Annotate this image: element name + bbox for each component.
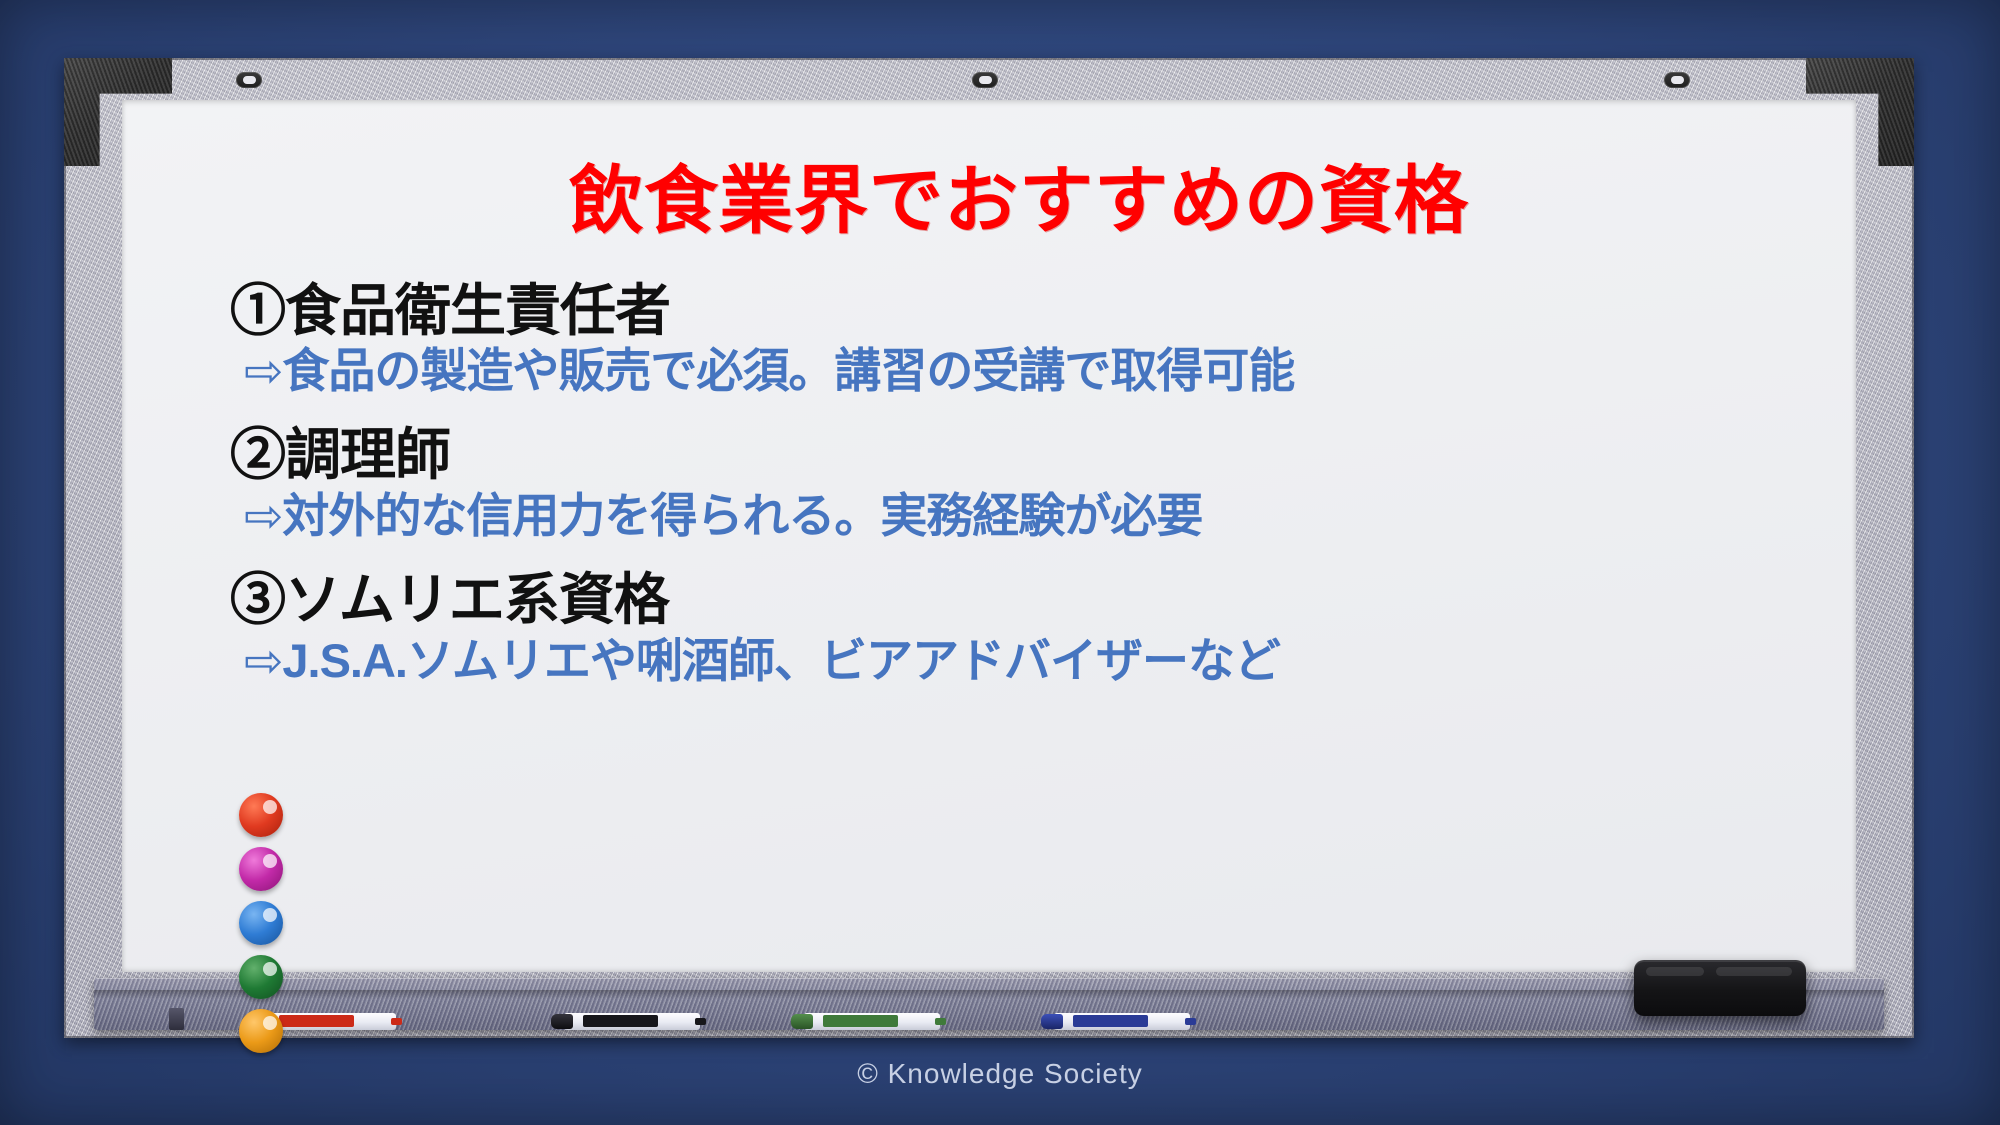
magnet-green[interactable] [239, 955, 283, 999]
mount-screw-left [236, 72, 262, 88]
item-2-description: ⇨対外的な信用力を得られる。実務経験が必要 [244, 489, 1844, 543]
certification-list: ①食品衛生責任者 ⇨食品の製造や販売で必須。講習の受講で取得可能 ②調理師 ⇨対… [194, 280, 1844, 688]
marker-black[interactable] [564, 1013, 700, 1030]
item-3-description: ⇨J.S.A.ソムリエや唎酒師、ビアアドバイザーなど [244, 634, 1844, 688]
pen-tray-shadow [94, 990, 1884, 999]
item-1-description: ⇨食品の製造や販売で必須。講習の受講で取得可能 [244, 344, 1844, 398]
arrow-icon: ⇨ [244, 634, 282, 687]
tray-divider-left [169, 1008, 184, 1030]
copyright-footer: © Knowledge Society [0, 1058, 2000, 1090]
magnet-strip [239, 793, 283, 1063]
arrow-icon: ⇨ [244, 344, 282, 397]
whiteboard-eraser[interactable] [1634, 960, 1806, 1016]
magnet-orange[interactable] [239, 1009, 283, 1053]
item-1-description-text: 食品の製造や販売で必須。講習の受講で取得可能 [282, 344, 1294, 397]
item-2-description-text: 対外的な信用力を得られる。実務経験が必要 [282, 489, 1202, 542]
item-2-heading: ②調理師 [230, 424, 1844, 487]
slide-canvas: 飲食業界でおすすめの資格 ①食品衛生責任者 ⇨食品の製造や販売で必須。講習の受講… [0, 0, 2000, 1125]
list-item: ②調理師 ⇨対外的な信用力を得られる。実務経験が必要 [230, 424, 1844, 543]
slide-content: 飲食業界でおすすめの資格 ①食品衛生責任者 ⇨食品の製造や販売で必須。講習の受講… [194, 128, 1844, 928]
magnet-red[interactable] [239, 793, 283, 837]
mount-screw-center [972, 72, 998, 88]
page-title: 飲食業界でおすすめの資格 [194, 162, 1844, 240]
mount-screw-right [1664, 72, 1690, 88]
arrow-icon: ⇨ [244, 489, 282, 542]
whiteboard: 飲食業界でおすすめの資格 ①食品衛生責任者 ⇨食品の製造や販売で必須。講習の受講… [64, 58, 1914, 1038]
marker-blue[interactable] [1054, 1013, 1190, 1030]
list-item: ①食品衛生責任者 ⇨食品の製造や販売で必須。講習の受講で取得可能 [230, 280, 1844, 399]
item-3-heading: ③ソムリエ系資格 [230, 569, 1844, 632]
list-item: ③ソムリエ系資格 ⇨J.S.A.ソムリエや唎酒師、ビアアドバイザーなど [230, 569, 1844, 688]
item-1-heading: ①食品衛生責任者 [230, 280, 1844, 343]
item-3-description-text: J.S.A.ソムリエや唎酒師、ビアアドバイザーなど [282, 634, 1280, 687]
magnet-magenta[interactable] [239, 847, 283, 891]
magnet-blue[interactable] [239, 901, 283, 945]
marker-green[interactable] [804, 1013, 940, 1030]
